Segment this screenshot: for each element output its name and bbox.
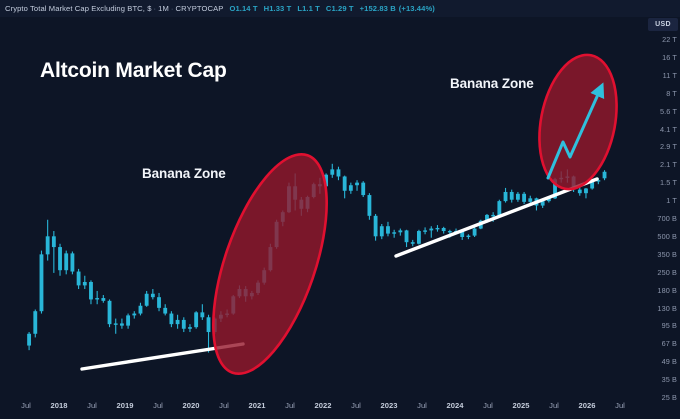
candle-body: [95, 298, 99, 299]
price-tick: 25 B: [662, 393, 677, 402]
candle-body: [374, 216, 378, 236]
candle-body: [145, 294, 149, 306]
price-tick: 95 B: [662, 321, 677, 330]
change-percent: (+13.44%): [399, 4, 435, 13]
candle-body: [58, 247, 62, 270]
support-trendline-2: [396, 179, 597, 256]
time-tick-year: 2020: [183, 401, 200, 410]
candle-body: [473, 229, 477, 236]
header-separator-2: ·: [171, 4, 174, 13]
timeframe-label[interactable]: 1M: [158, 4, 169, 13]
candle-body: [83, 282, 87, 285]
candle-body: [584, 188, 588, 193]
price-tick: 350 B: [657, 250, 677, 259]
time-tick-month: Jul: [549, 401, 559, 410]
ohlc-low: L1.1 T: [297, 4, 320, 13]
candle-body: [33, 311, 37, 334]
page-title: Altcoin Market Cap: [40, 59, 227, 83]
candle-body: [417, 231, 421, 244]
symbol-description[interactable]: Crypto Total Market Cap Excluding BTC, $: [5, 4, 152, 13]
candle-body: [491, 215, 495, 216]
candle-body: [139, 306, 143, 314]
time-tick-month: Jul: [87, 401, 97, 410]
candle-body: [114, 323, 118, 324]
candle-body: [343, 176, 347, 190]
time-tick-month: Jul: [153, 401, 163, 410]
ohlc-open: O1.14 T: [229, 4, 257, 13]
price-tick: 5.6 T: [660, 107, 677, 116]
currency-badge[interactable]: USD: [648, 18, 678, 31]
candle-body: [578, 190, 582, 194]
time-tick-month: Jul: [351, 401, 361, 410]
candle-body: [64, 253, 68, 270]
change-absolute: +152.83 B: [360, 4, 396, 13]
data-source-label[interactable]: CRYPTOCAP: [176, 4, 224, 13]
price-tick: 500 B: [657, 232, 677, 241]
candle-body: [510, 192, 514, 200]
time-tick-month: Jul: [417, 401, 427, 410]
candle-body: [330, 169, 334, 174]
candle-body: [194, 312, 198, 327]
candle-body: [337, 169, 341, 176]
candle-body: [157, 297, 161, 308]
high-value: 1.33 T: [269, 4, 291, 13]
time-tick-month: Jul: [219, 401, 229, 410]
header-separator-1: ·: [154, 4, 157, 13]
candle-body: [27, 334, 31, 346]
candle-body: [522, 194, 526, 202]
candle-body: [349, 185, 353, 191]
price-tick: 49 B: [662, 357, 677, 366]
candle-body: [361, 183, 365, 195]
price-tick: 180 B: [657, 286, 677, 295]
price-tick: 130 B: [657, 304, 677, 313]
candle-body: [200, 312, 204, 317]
candle-body: [70, 253, 74, 271]
candle-body: [448, 231, 452, 232]
candle-body: [367, 195, 371, 216]
candle-body: [516, 194, 520, 200]
time-axis[interactable]: Jul2018Jul2019Jul2020Jul2021Jul2022Jul20…: [0, 397, 644, 419]
candle-body: [77, 272, 81, 286]
candle-body: [169, 314, 173, 325]
candle-body: [108, 301, 112, 324]
candle-body: [101, 298, 105, 301]
banana-zone-label-1: Banana Zone: [142, 166, 226, 181]
time-tick-year: 2023: [381, 401, 398, 410]
candle-body: [423, 230, 427, 231]
price-tick: 2.1 T: [660, 160, 677, 169]
price-tick: 250 B: [657, 268, 677, 277]
candle-body: [442, 228, 446, 231]
candle-body: [176, 320, 180, 324]
candle-body: [163, 308, 167, 314]
candle-body: [429, 229, 433, 231]
time-tick-month: Jul: [21, 401, 31, 410]
time-tick-month: Jul: [483, 401, 493, 410]
time-tick-month: Jul: [615, 401, 625, 410]
candle-body: [497, 201, 501, 216]
candle-body: [89, 282, 93, 299]
candle-body: [466, 236, 470, 237]
banana-zone-label-2: Banana Zone: [450, 76, 534, 91]
candle-body: [386, 226, 390, 233]
time-tick-year: 2019: [117, 401, 134, 410]
open-value: 1.14 T: [235, 4, 257, 13]
price-tick: 11 T: [663, 71, 677, 80]
candle-body: [207, 317, 211, 332]
close-value: 1.29 T: [331, 4, 353, 13]
price-tick: 1 T: [666, 196, 677, 205]
banana-zone-ellipse-2: [529, 48, 628, 196]
candle-body: [52, 236, 56, 247]
candle-body: [504, 192, 508, 201]
price-tick: 1.5 T: [660, 178, 677, 187]
price-axis[interactable]: USD 22 T16 T11 T8 T5.6 T4.1 T2.9 T2.1 T1…: [644, 17, 680, 419]
chart-header: Crypto Total Market Cap Excluding BTC, $…: [0, 0, 680, 17]
candle-body: [411, 242, 415, 244]
price-tick: 2.9 T: [660, 142, 677, 151]
candle-body: [405, 230, 409, 242]
time-tick-month: Jul: [285, 401, 295, 410]
ohlc-close: C1.29 T: [326, 4, 354, 13]
candle-body: [120, 323, 124, 325]
candle-body: [188, 327, 192, 329]
low-value: 1.1 T: [302, 4, 320, 13]
candle-body: [182, 320, 186, 329]
price-tick: 67 B: [662, 339, 677, 348]
time-tick-year: 2026: [579, 401, 596, 410]
time-tick-year: 2022: [315, 401, 332, 410]
chart-screenshot: Crypto Total Market Cap Excluding BTC, $…: [0, 0, 680, 419]
candle-body: [126, 315, 130, 325]
candle-body: [436, 228, 440, 229]
price-tick: 8 T: [666, 89, 677, 98]
candle-body: [398, 230, 402, 232]
time-tick-year: 2018: [51, 401, 68, 410]
candle-body: [380, 226, 384, 236]
candle-body: [603, 172, 607, 179]
overlay-group: [82, 48, 627, 387]
price-tick: 16 T: [662, 53, 677, 62]
time-tick-year: 2021: [249, 401, 266, 410]
candle-body: [355, 183, 359, 186]
price-tick: 35 B: [662, 375, 677, 384]
price-tick: 4.1 T: [660, 125, 677, 134]
price-tick: 22 T: [662, 35, 677, 44]
time-tick-year: 2025: [513, 401, 530, 410]
candle-body: [151, 294, 155, 297]
candle-body: [132, 314, 136, 316]
candle-body: [392, 232, 396, 233]
ohlc-high: H1.33 T: [264, 4, 292, 13]
candle-body: [40, 254, 44, 311]
candle-body: [528, 198, 532, 202]
candle-body: [46, 236, 50, 254]
time-tick-year: 2024: [447, 401, 464, 410]
price-tick: 700 B: [657, 214, 677, 223]
